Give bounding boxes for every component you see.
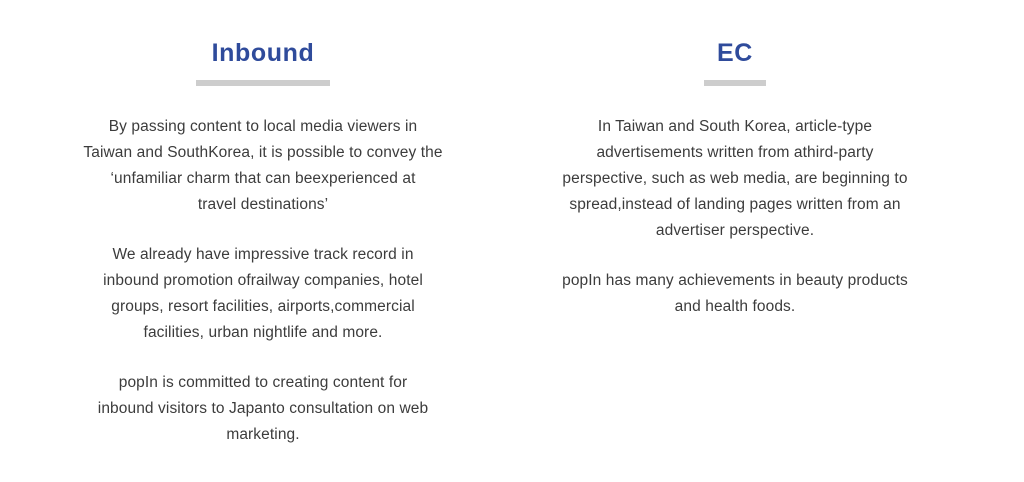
paragraph-line: advertisements written from athird-party: [545, 140, 925, 166]
paragraph: In Taiwan and South Korea, article-type …: [545, 114, 925, 244]
paragraph-line: travel destinations’: [73, 192, 453, 218]
paragraph: popIn has many achievements in beauty pr…: [545, 268, 925, 320]
paragraph-line: popIn is committed to creating content f…: [73, 370, 453, 396]
column-inbound: Inbound By passing content to local medi…: [0, 38, 490, 448]
column-inbound-title-underline: [196, 80, 330, 86]
paragraph-line: ‘unfamiliar charm that can beexperienced…: [73, 166, 453, 192]
paragraph: We already have impressive track record …: [73, 242, 453, 346]
paragraph-line: inbound visitors to Japanto consultation…: [73, 396, 453, 422]
paragraph: popIn is committed to creating content f…: [73, 370, 453, 448]
column-ec-title-underline: [704, 80, 766, 86]
column-ec: EC In Taiwan and South Korea, article-ty…: [490, 38, 980, 320]
paragraph-line: popIn has many achievements in beauty pr…: [545, 268, 925, 294]
column-ec-body: In Taiwan and South Korea, article-type …: [545, 114, 925, 320]
paragraph-line: and health foods.: [545, 294, 925, 320]
paragraph-line: groups, resort facilities, airports,comm…: [73, 294, 453, 320]
content-page: Inbound By passing content to local medi…: [0, 0, 1024, 482]
paragraph: By passing content to local media viewer…: [73, 114, 453, 218]
paragraph-line: By passing content to local media viewer…: [73, 114, 453, 140]
paragraph-line: perspective, such as web media, are begi…: [545, 166, 925, 192]
column-inbound-header: Inbound: [36, 38, 490, 86]
paragraph-line: Taiwan and SouthKorea, it is possible to…: [73, 140, 453, 166]
paragraph-line: marketing.: [73, 422, 453, 448]
column-inbound-title: Inbound: [212, 38, 315, 68]
paragraph-line: spread,instead of landing pages written …: [545, 192, 925, 218]
column-ec-header: EC: [490, 38, 980, 86]
paragraph-line: We already have impressive track record …: [73, 242, 453, 268]
column-ec-title: EC: [717, 38, 753, 68]
paragraph-line: facilities, urban nightlife and more.: [73, 320, 453, 346]
paragraph-line: In Taiwan and South Korea, article-type: [545, 114, 925, 140]
two-column-layout: Inbound By passing content to local medi…: [0, 0, 1024, 448]
paragraph-line: inbound promotion ofrailway companies, h…: [73, 268, 453, 294]
paragraph-line: advertiser perspective.: [545, 218, 925, 244]
column-inbound-body: By passing content to local media viewer…: [73, 114, 453, 448]
